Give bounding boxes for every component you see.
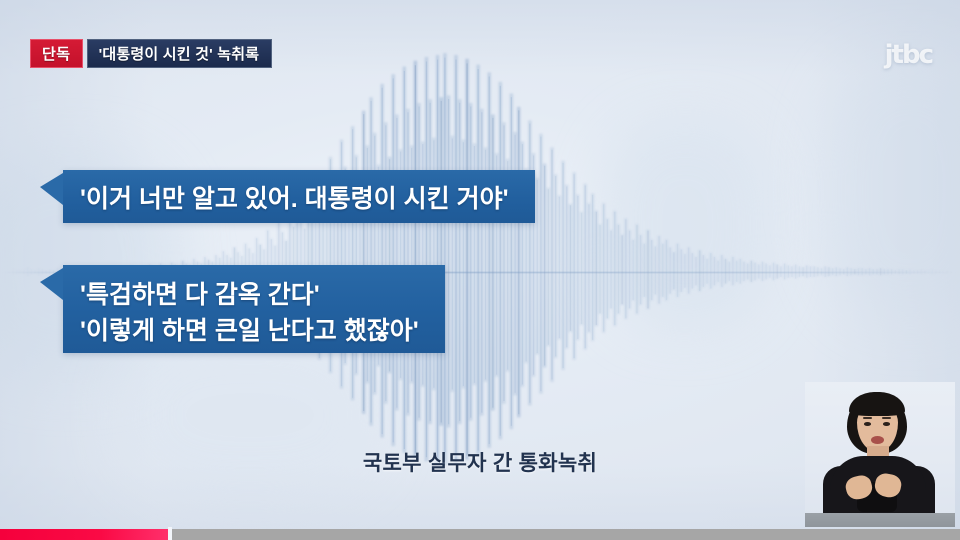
interpreter-eyebrow	[863, 417, 872, 419]
bubble-tail-icon	[40, 173, 63, 205]
interpreter-mouth	[871, 436, 884, 444]
sign-language-interpreter	[805, 382, 955, 527]
interpreter-eyebrow	[882, 417, 891, 419]
interpreter-desk	[805, 513, 955, 527]
quote-bubble-2: '특검하면 다 감옥 간다' '이렇게 하면 큰일 난다고 했잖아'	[63, 265, 445, 353]
interpreter-eye	[864, 422, 871, 426]
playback-progress-fill	[0, 529, 168, 540]
quote-bubble-1: '이거 너만 알고 있어. 대통령이 시킨 거야'	[63, 170, 535, 223]
header-banner: 단독 '대통령이 시킨 것' 녹취록	[30, 39, 272, 68]
interpreter-eye	[883, 422, 890, 426]
exclusive-badge: 단독	[30, 39, 83, 68]
jtbc-logo: jtbc	[885, 40, 932, 70]
playback-progress-bar[interactable]	[0, 529, 960, 540]
quote-line: '이거 너만 알고 있어. 대통령이 시킨 거야'	[80, 179, 509, 215]
bubble-tail-icon	[40, 268, 63, 300]
headline-title: '대통령이 시킨 것' 녹취록	[87, 39, 273, 68]
broadcast-screen: 단독 '대통령이 시킨 것' 녹취록 jtbc '이거 너만 알고 있어. 대통…	[0, 0, 960, 540]
quote-line: '특검하면 다 감옥 간다'	[80, 278, 445, 314]
playback-progress-handle[interactable]	[168, 527, 172, 540]
quote-line: '이렇게 하면 큰일 난다고 했잖아'	[80, 314, 445, 350]
